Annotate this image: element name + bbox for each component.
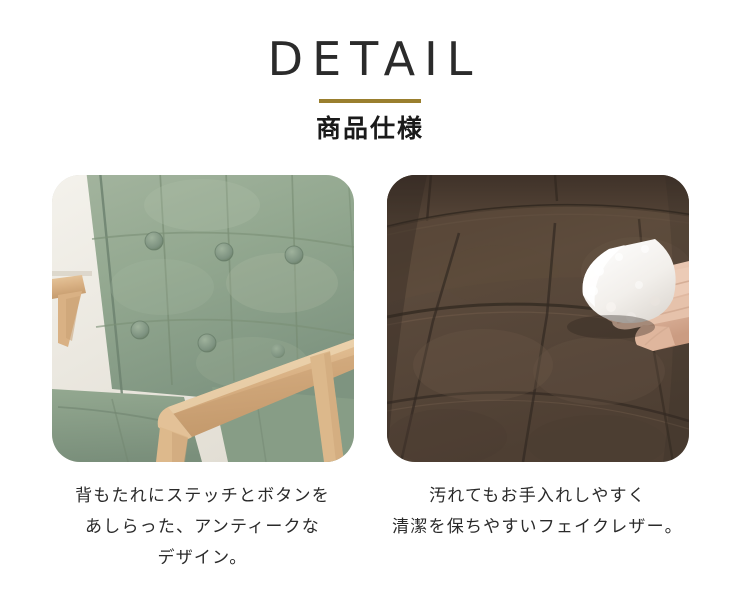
panel-caption-right: 汚れてもお手入れしやすく 清潔を保ちやすいフェイクレザー。 bbox=[387, 481, 689, 543]
caption-line: 清潔を保ちやすいフェイクレザー。 bbox=[387, 512, 689, 543]
brown-faux-leather-wipe-photo bbox=[387, 175, 689, 462]
sage-green-tufted-sofa-photo bbox=[52, 175, 354, 462]
page-title: DETAIL bbox=[0, 36, 740, 82]
caption-line: 汚れてもお手入れしやすく bbox=[387, 481, 689, 512]
caption-line: あしらった、アンティークな bbox=[52, 512, 354, 543]
detail-panel-right: 汚れてもお手入れしやすく 清潔を保ちやすいフェイクレザー。 bbox=[387, 175, 689, 574]
title-divider bbox=[319, 99, 421, 103]
section-header: DETAIL 商品仕様 bbox=[0, 0, 740, 144]
page-subtitle: 商品仕様 bbox=[0, 114, 740, 144]
caption-line: 背もたれにステッチとボタンを bbox=[52, 481, 354, 512]
detail-panels: 背もたれにステッチとボタンを あしらった、アンティークな デザイン。 bbox=[0, 175, 740, 574]
detail-panel-left: 背もたれにステッチとボタンを あしらった、アンティークな デザイン。 bbox=[52, 175, 354, 574]
panel-caption-left: 背もたれにステッチとボタンを あしらった、アンティークな デザイン。 bbox=[52, 481, 354, 574]
caption-line: デザイン。 bbox=[52, 543, 354, 574]
